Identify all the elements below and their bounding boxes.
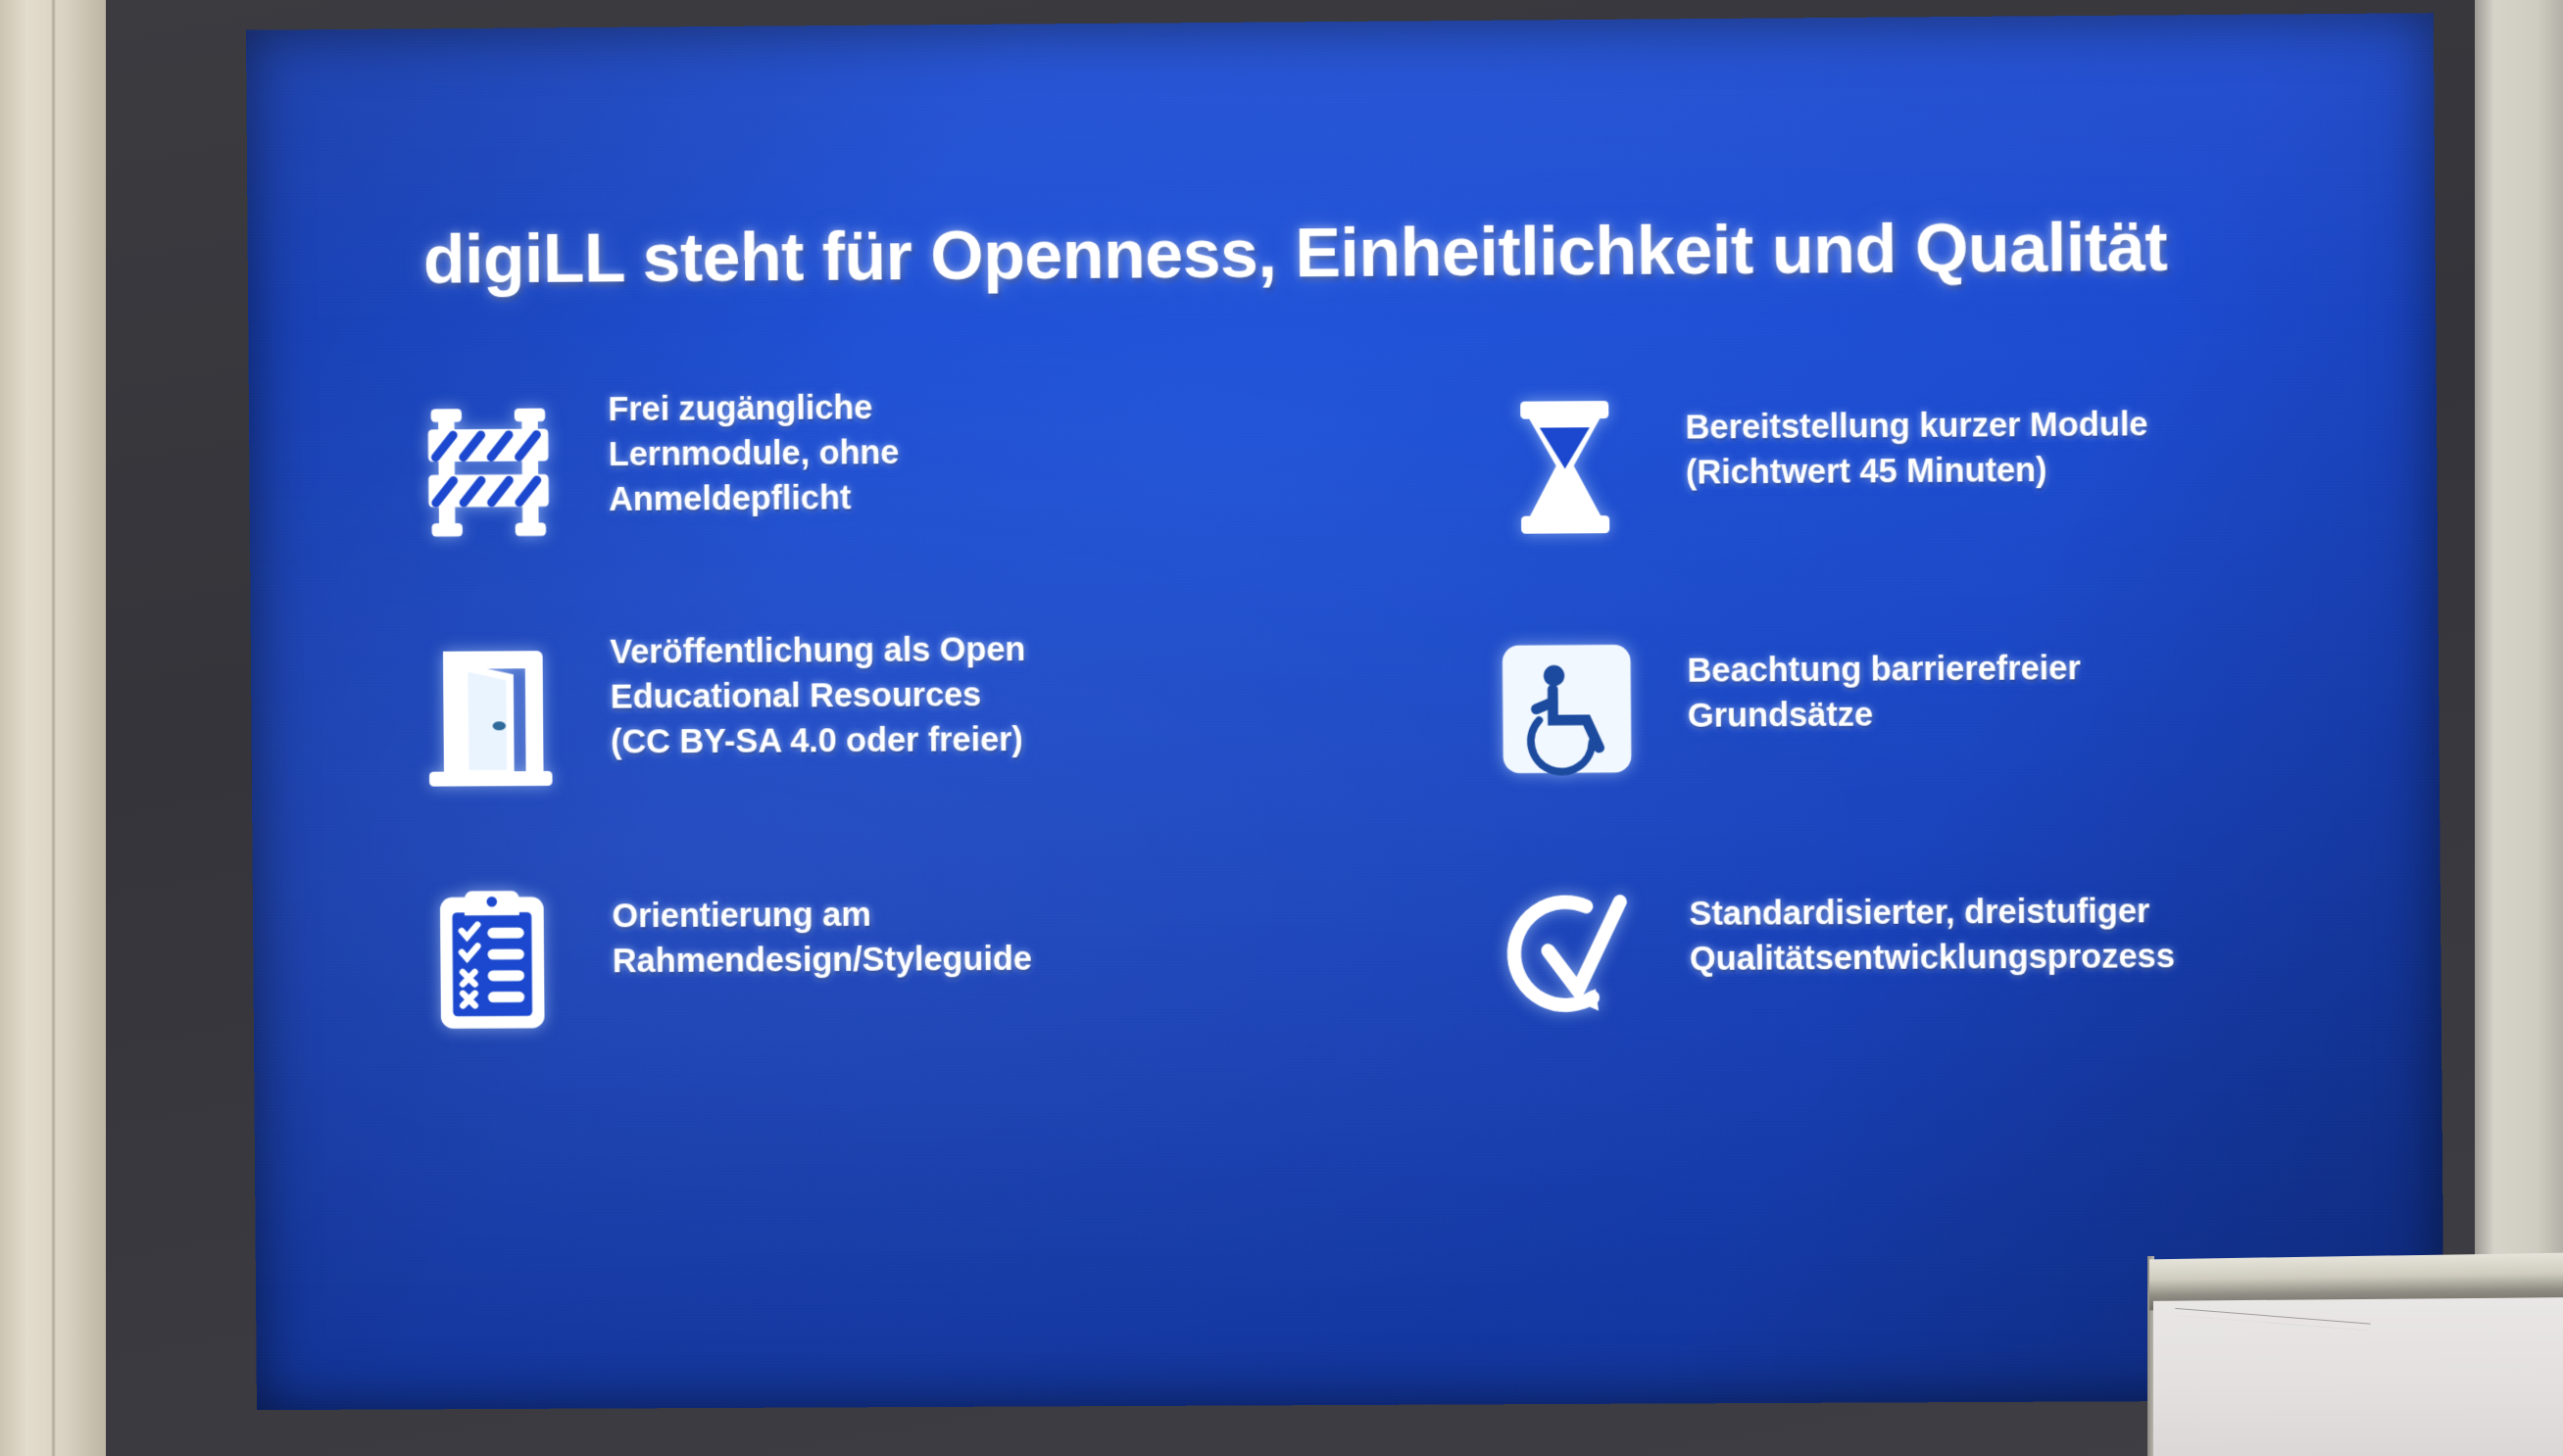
feature-line: Frei zugängliche bbox=[608, 385, 899, 432]
wheelchair-accessibility-icon bbox=[1473, 615, 1661, 802]
projected-slide: digiLL steht für Openness, Einheitlichke… bbox=[246, 13, 2444, 1410]
feature-text: Beachtung barrierefreier Grundsätze bbox=[1687, 612, 2081, 739]
open-door-icon bbox=[397, 622, 584, 809]
feature-line: Educational Resources bbox=[611, 672, 1026, 720]
feature-text: Bereitstellung kurzer Module (Richtwert … bbox=[1685, 368, 2148, 496]
hourglass-icon bbox=[1471, 372, 1659, 559]
clipboard-checklist-icon bbox=[399, 865, 586, 1052]
wall-left bbox=[0, 0, 106, 1456]
feature-line: Rahmendesign/Styleguide bbox=[613, 937, 1032, 985]
room-scene: digiLL steht für Openness, Einheitlichke… bbox=[0, 0, 2563, 1456]
feature-line: (Richtwert 45 Minuten) bbox=[1686, 448, 2148, 496]
feature-line: Grundsätze bbox=[1688, 691, 2082, 739]
feature-line: Standardisierter, dreistufiger bbox=[1689, 889, 2174, 937]
feature-item-styleguide: Orientierung am Rahmendesign/Styleguide bbox=[399, 860, 1359, 1108]
slide-title: digiLL steht für Openness, Einheitlichke… bbox=[423, 210, 2385, 296]
projection-board-frame: digiLL steht für Openness, Einheitlichke… bbox=[106, 0, 2475, 1456]
feature-line: Qualitätsentwicklungsprozess bbox=[1690, 934, 2175, 982]
feature-line: Lernmodule, ohne bbox=[609, 430, 900, 477]
quality-cycle-check-icon bbox=[1475, 858, 1663, 1045]
feature-line: (CC BY-SA 4.0 oder freier) bbox=[611, 717, 1026, 765]
wall-right bbox=[2475, 0, 2563, 1456]
feature-item-kurze-module: Bereitstellung kurzer Module (Richtwert … bbox=[1412, 367, 2377, 617]
feature-item-oer: Veröffentlichung als Open Educational Re… bbox=[397, 617, 1357, 866]
feature-item-frei-zugaengliche: Frei zugängliche Lernmodule, ohne Anmeld… bbox=[395, 374, 1355, 623]
feature-item-qualitaetsprozess: Standardisierter, dreistufiger Qualitäts… bbox=[1416, 854, 2381, 1103]
feature-text: Veröffentlichung als Open Educational Re… bbox=[610, 619, 1026, 765]
feature-text: Orientierung am Rahmendesign/Styleguide bbox=[612, 862, 1032, 985]
feature-grid: Frei zugängliche Lernmodule, ohne Anmeld… bbox=[395, 367, 2381, 1109]
feature-text: Frei zugängliche Lernmodule, ohne Anmeld… bbox=[608, 377, 900, 522]
feature-line: Beachtung barrierefreier bbox=[1687, 646, 2081, 694]
feature-line: Orientierung am bbox=[612, 892, 1031, 940]
flipchart-board bbox=[2142, 1244, 2563, 1456]
barrier-icon bbox=[395, 379, 582, 566]
flipchart-paper bbox=[2153, 1297, 2563, 1456]
feature-line: Anmeldepflicht bbox=[609, 475, 900, 522]
feature-item-barrierefreiheit: Beachtung barrierefreier Grundsätze bbox=[1414, 610, 2379, 859]
feature-text: Standardisierter, dreistufiger Qualitäts… bbox=[1689, 855, 2175, 982]
feature-line: Bereitstellung kurzer Module bbox=[1685, 402, 2147, 451]
feature-line: Veröffentlichung als Open bbox=[610, 627, 1025, 675]
